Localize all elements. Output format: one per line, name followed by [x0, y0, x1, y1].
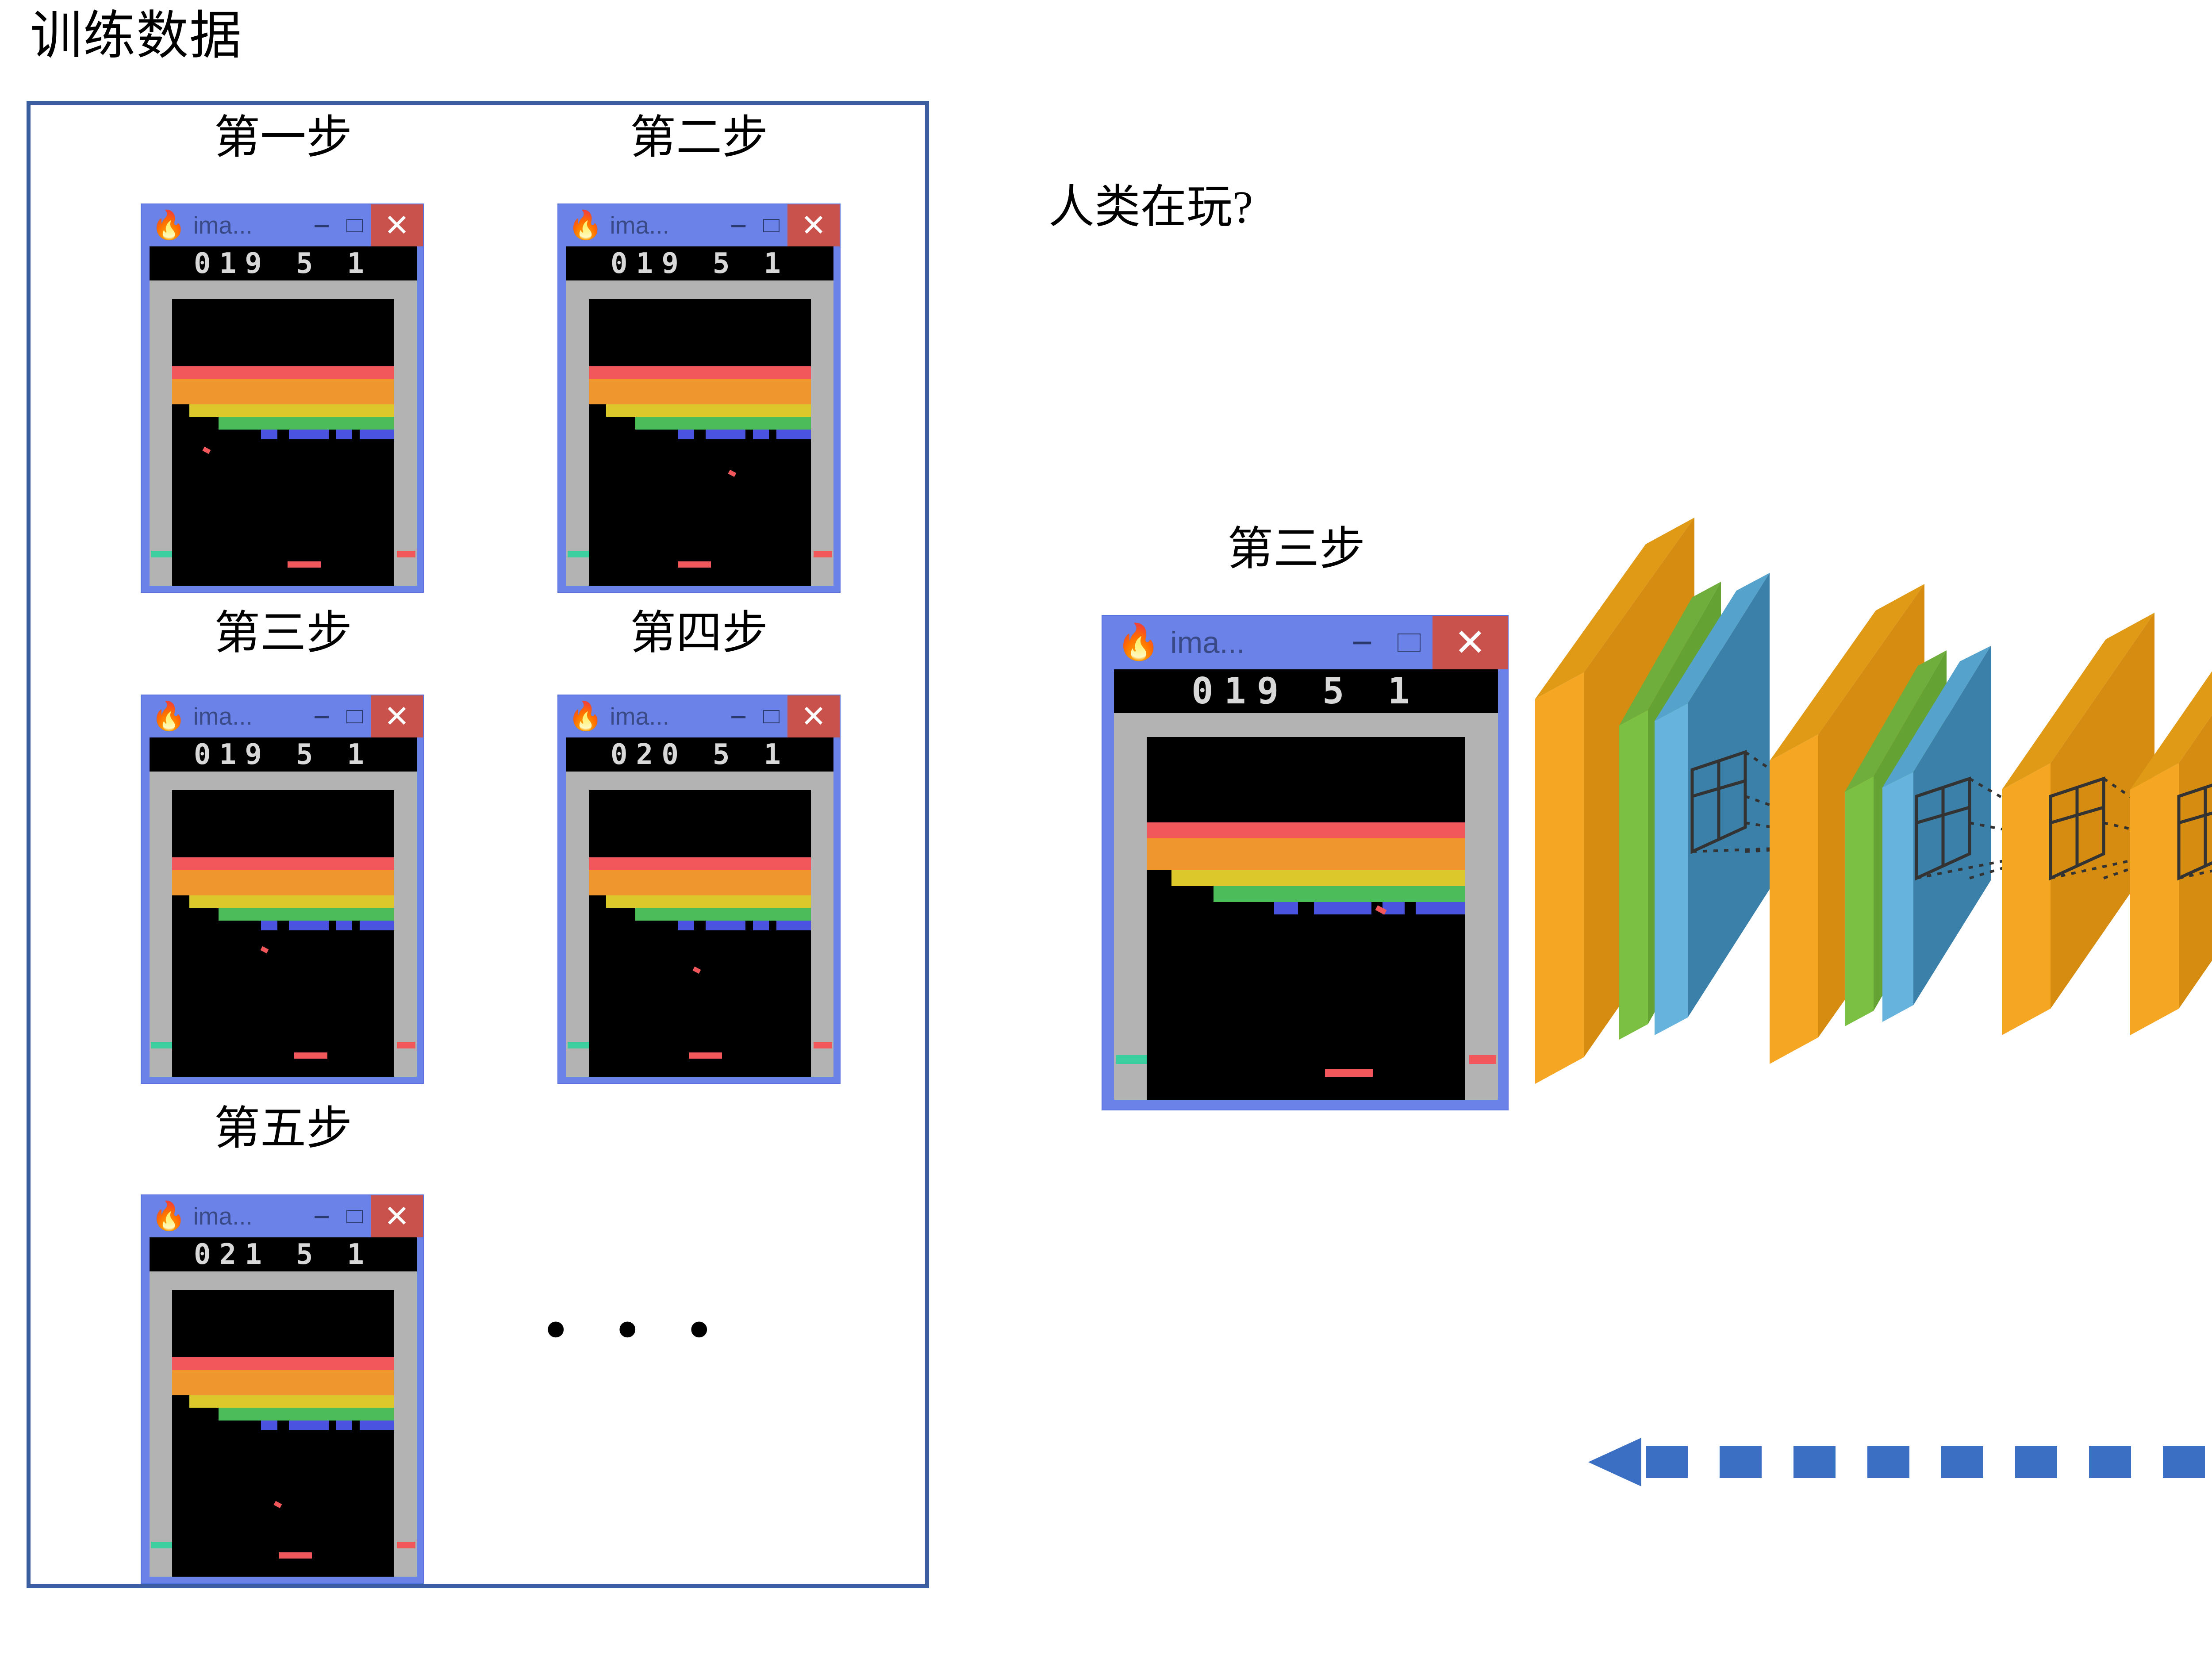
brick-row: [606, 895, 811, 908]
brick-row: [172, 883, 394, 895]
left-edge-marker: [568, 551, 589, 557]
brick-row: [219, 1408, 394, 1421]
cnn-architecture-diagram: [1535, 513, 2212, 1133]
maximize-button[interactable]: [338, 204, 371, 246]
brick-row: [172, 857, 394, 870]
left-edge-marker: [151, 551, 172, 557]
brick-row: [635, 417, 811, 430]
atari-game-screen[interactable]: 019 5 1: [1114, 669, 1498, 1100]
step-caption-2: 第二步: [557, 115, 841, 161]
minimize-button[interactable]: −: [722, 695, 755, 737]
left-edge-marker: [1116, 1055, 1146, 1064]
window-controls[interactable]: −✕: [305, 204, 423, 246]
brick-segment: [289, 430, 329, 439]
brick-row: [1214, 886, 1465, 902]
left-edge-marker: [568, 1042, 589, 1048]
game-paddle: [678, 561, 711, 568]
close-button[interactable]: ✕: [371, 695, 423, 737]
maximize-button[interactable]: [338, 695, 371, 737]
flame-icon: 🔥: [151, 1202, 186, 1230]
right-edge-marker: [814, 551, 832, 557]
game-paddle: [294, 1052, 327, 1059]
close-button[interactable]: ✕: [787, 204, 840, 246]
window-controls[interactable]: −✕: [1339, 616, 1508, 669]
brick-row: [1147, 854, 1465, 870]
brick-segment: [360, 430, 394, 439]
brick-segment: [753, 430, 768, 439]
atari-game-screen[interactable]: 019 5 1: [150, 737, 417, 1077]
minimize-button[interactable]: −: [722, 204, 755, 246]
brick-row: [172, 1357, 394, 1370]
atari-game-window[interactable]: 🔥ima...−✕019 5 1: [141, 203, 424, 593]
flame-icon: 🔥: [151, 703, 186, 730]
brick-row: [606, 404, 811, 417]
window-controls[interactable]: −✕: [722, 695, 840, 737]
window-titlebar[interactable]: 🔥ima...−✕: [558, 204, 840, 246]
brick-row: [172, 1370, 394, 1383]
brick-row: [172, 379, 394, 392]
flame-icon: 🔥: [568, 211, 603, 239]
game-scoreboard: 019 5 1: [566, 246, 833, 280]
flame-icon: 🔥: [568, 703, 603, 730]
brick-row: [219, 908, 394, 921]
brick-row: [1147, 822, 1465, 838]
brick-segment: [360, 921, 394, 930]
breakout-play-field: [172, 299, 394, 586]
game-scoreboard: 021 5 1: [150, 1237, 417, 1271]
close-button[interactable]: ✕: [1432, 616, 1508, 669]
brick-row: [172, 870, 394, 883]
minimize-button[interactable]: −: [305, 1195, 338, 1237]
brick-segment: [261, 921, 278, 930]
brick-segment: [776, 430, 811, 439]
right-edge-marker: [1469, 1055, 1496, 1064]
brick-row: [172, 366, 394, 379]
window-controls[interactable]: −✕: [722, 204, 840, 246]
window-title: ima...: [1170, 627, 1245, 658]
brick-segment: [289, 1421, 329, 1430]
brick-segment: [1274, 902, 1298, 914]
step-caption-3: 第三步: [142, 610, 425, 657]
maximize-button[interactable]: [755, 204, 787, 246]
maximize-button[interactable]: [755, 695, 787, 737]
minimize-button[interactable]: −: [305, 204, 338, 246]
maximize-icon: [763, 710, 780, 723]
window-title: ima...: [193, 213, 252, 238]
game-scoreboard: 020 5 1: [566, 737, 833, 772]
brick-row: [172, 1382, 394, 1395]
backpropagation-arrow: [1588, 1438, 2212, 1486]
maximize-icon: [1398, 634, 1421, 652]
game-ball: [693, 967, 701, 974]
window-titlebar[interactable]: 🔥ima...−✕: [558, 695, 840, 737]
window-titlebar[interactable]: 🔥ima...−✕: [142, 695, 423, 737]
game-scoreboard: 019 5 1: [150, 246, 417, 280]
brick-row: [172, 392, 394, 404]
left-edge-marker: [151, 1542, 172, 1548]
brick-segment: [678, 921, 695, 930]
brick-segment: [360, 1421, 394, 1430]
window-title: ima...: [193, 704, 252, 729]
brick-segment: [678, 430, 695, 439]
brick-segment: [706, 430, 745, 439]
brick-segment: [336, 430, 352, 439]
game-paddle: [1325, 1069, 1373, 1077]
window-controls[interactable]: −✕: [305, 695, 423, 737]
brick-row: [589, 392, 811, 404]
maximize-icon: [763, 219, 780, 232]
atari-game-screen[interactable]: 020 5 1: [566, 737, 833, 1077]
close-button[interactable]: ✕: [371, 204, 423, 246]
brick-row: [635, 908, 811, 921]
game-paddle: [279, 1552, 312, 1559]
minimize-button[interactable]: −: [305, 695, 338, 737]
brick-row: [589, 366, 811, 379]
window-titlebar[interactable]: 🔥ima...−✕: [1102, 616, 1508, 669]
game-scoreboard: 019 5 1: [150, 737, 417, 772]
step-caption-4: 第四步: [557, 610, 841, 657]
breakout-play-field: [589, 299, 811, 586]
atari-game-screen[interactable]: 019 5 1: [150, 246, 417, 586]
brick-row: [189, 1395, 394, 1408]
window-controls[interactable]: −✕: [305, 1195, 423, 1237]
maximize-icon: [346, 710, 363, 723]
page-title: 训练数据: [30, 4, 242, 69]
game-ball: [274, 1501, 282, 1508]
close-button[interactable]: ✕: [787, 695, 840, 737]
game-ball: [260, 946, 269, 953]
minimize-button[interactable]: −: [1339, 616, 1386, 669]
atari-game-screen[interactable]: 019 5 1: [566, 246, 833, 586]
left-edge-marker: [151, 1042, 172, 1048]
brick-row: [1147, 838, 1465, 854]
brick-row: [589, 870, 811, 883]
window-titlebar[interactable]: 🔥ima...−✕: [142, 204, 423, 246]
right-edge-marker: [397, 1542, 415, 1548]
right-edge-marker: [814, 1042, 832, 1048]
brick-segment: [1382, 902, 1405, 914]
brick-segment: [336, 1421, 352, 1430]
human-playing-label: 人类在玩?: [1048, 177, 1253, 238]
brick-segment: [261, 1421, 278, 1430]
step-caption-5: 第五步: [142, 1106, 425, 1152]
breakout-play-field: [1147, 737, 1465, 1100]
brick-row: [189, 404, 394, 417]
atari-game-window[interactable]: 🔥ima...−✕020 5 1: [557, 695, 841, 1084]
flame-icon: 🔥: [151, 211, 186, 239]
brick-segment: [706, 921, 745, 930]
game-ball: [728, 470, 737, 477]
brick-segment: [289, 921, 329, 930]
window-titlebar[interactable]: 🔥ima...−✕: [142, 1195, 423, 1237]
maximize-icon: [346, 1210, 363, 1223]
brick-segment: [776, 921, 811, 930]
brick-segment: [753, 921, 768, 930]
brick-row: [589, 883, 811, 895]
right-edge-marker: [397, 1042, 415, 1048]
brick-segment: [261, 430, 278, 439]
right-edge-marker: [397, 551, 415, 557]
game-paddle: [689, 1052, 722, 1059]
close-button[interactable]: ✕: [371, 1195, 423, 1237]
ellipsis-indicator: • • •: [544, 1296, 727, 1363]
atari-game-window[interactable]: 🔥ima...−✕019 5 1: [1102, 615, 1509, 1110]
brick-row: [589, 857, 811, 870]
atari-game-screen[interactable]: 021 5 1: [150, 1237, 417, 1577]
breakout-play-field: [172, 1290, 394, 1577]
window-title: ima...: [193, 1204, 252, 1229]
breakout-play-field: [589, 790, 811, 1077]
brick-segment: [1314, 902, 1371, 914]
maximize-button[interactable]: [1386, 616, 1432, 669]
center-sample-caption: 第三步: [1097, 526, 1495, 572]
maximize-button[interactable]: [338, 1195, 371, 1237]
maximize-icon: [346, 219, 363, 232]
brick-row: [1171, 870, 1465, 886]
window-title: ima...: [610, 213, 669, 238]
window-title: ima...: [610, 704, 669, 729]
game-scoreboard: 019 5 1: [1114, 669, 1498, 713]
brick-row: [589, 379, 811, 392]
brick-segment: [1416, 902, 1465, 914]
breakout-play-field: [172, 790, 394, 1077]
flame-icon: 🔥: [1117, 625, 1160, 660]
atari-game-window[interactable]: 🔥ima...−✕021 5 1: [141, 1194, 424, 1584]
atari-game-window[interactable]: 🔥ima...−✕019 5 1: [141, 695, 424, 1084]
game-ball: [203, 447, 211, 454]
brick-segment: [336, 921, 352, 930]
atari-game-window[interactable]: 🔥ima...−✕019 5 1: [557, 203, 841, 593]
step-caption-1: 第一步: [142, 115, 425, 161]
brick-row: [189, 895, 394, 908]
brick-row: [219, 417, 394, 430]
game-paddle: [288, 561, 321, 568]
